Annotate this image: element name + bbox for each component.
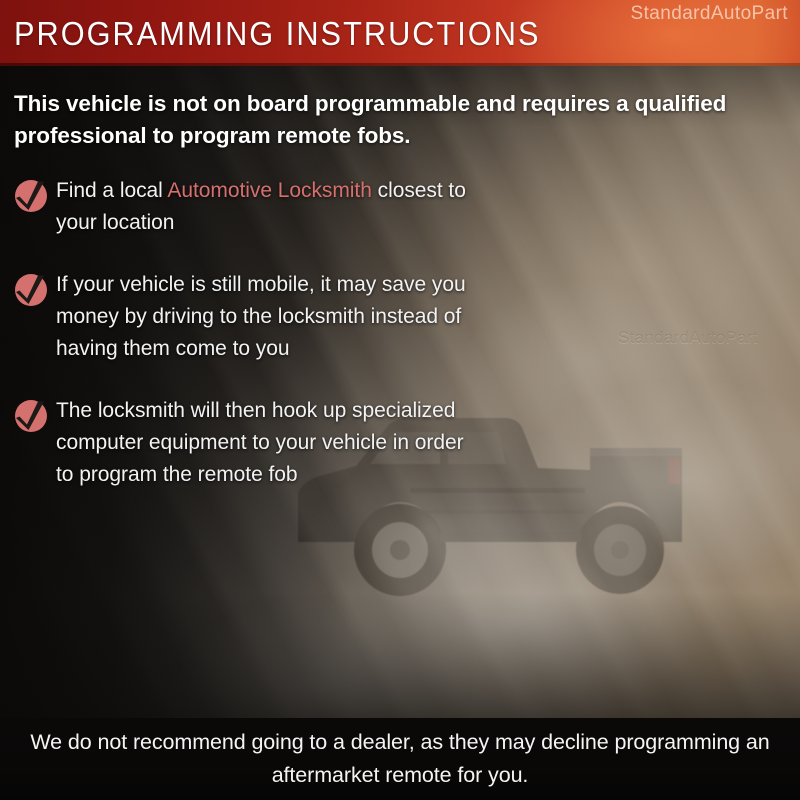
check-circle-icon <box>14 179 48 213</box>
brand-watermark-body: StandardAutoPart <box>618 328 758 348</box>
list-item: If your vehicle is still mobile, it may … <box>14 269 484 365</box>
check-circle-icon <box>14 273 48 307</box>
brand-watermark-header: StandardAutoPart <box>631 3 788 25</box>
list-item-text: The locksmith will then hook up speciali… <box>56 399 464 486</box>
page-title: PROGRAMMING INSTRUCTIONS <box>14 14 541 54</box>
instruction-list: Find a local Automotive Locksmith closes… <box>14 175 484 491</box>
list-item-text: If your vehicle is still mobile, it may … <box>56 273 466 360</box>
programming-instructions-poster: PROGRAMMING INSTRUCTIONS StandardAutoPar… <box>0 0 800 800</box>
footer-note: We do not recommend going to a dealer, a… <box>0 726 800 792</box>
list-item: Find a local Automotive Locksmith closes… <box>14 175 484 239</box>
automotive-locksmith-highlight: Automotive Locksmith <box>167 179 371 202</box>
footer-bar: We do not recommend going to a dealer, a… <box>0 718 800 800</box>
check-circle-icon <box>14 399 48 433</box>
list-item-text: Find a local Automotive Locksmith closes… <box>56 179 466 234</box>
list-item: The locksmith will then hook up speciali… <box>14 395 484 491</box>
header-bar: PROGRAMMING INSTRUCTIONS StandardAutoPar… <box>0 0 800 66</box>
lede-paragraph: This vehicle is not on board programmabl… <box>14 88 734 152</box>
list-item-text-before: Find a local <box>56 179 167 202</box>
